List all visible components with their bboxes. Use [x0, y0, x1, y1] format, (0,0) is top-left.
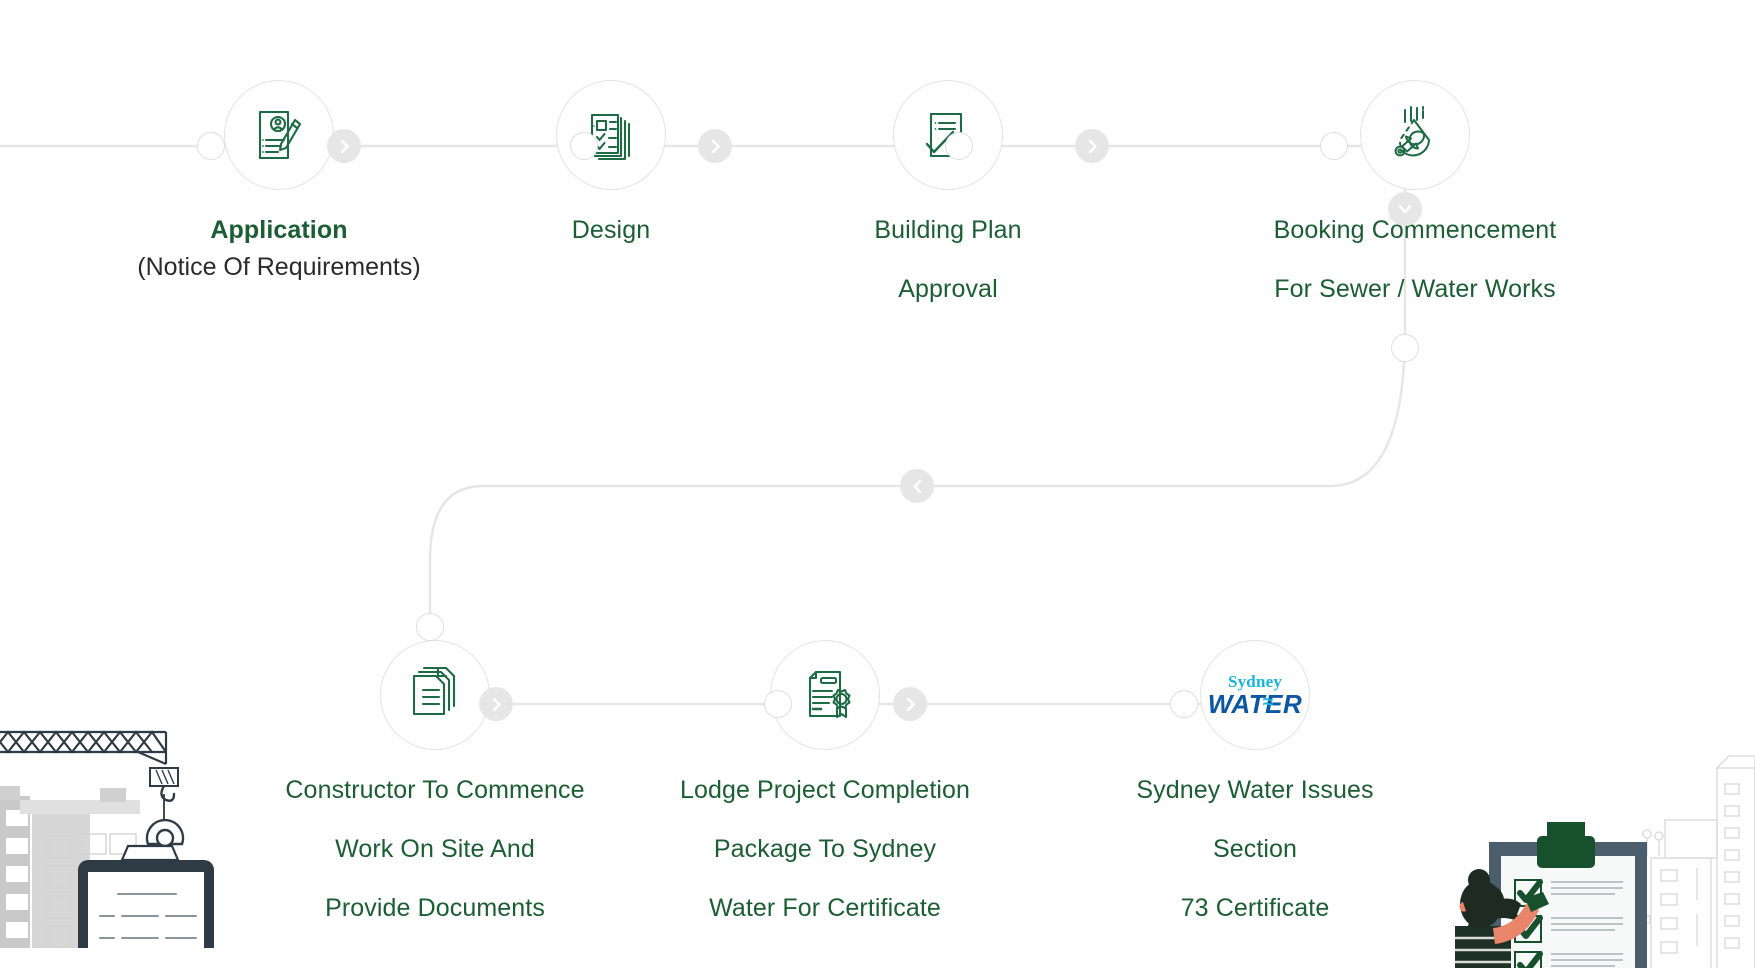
approved-document-check-icon	[917, 104, 979, 166]
step-building-plan-approval-label-2: Approval	[798, 271, 1098, 308]
step-constructor-label-2: Work On Site And	[270, 831, 600, 868]
hub-node-1	[197, 132, 225, 160]
step-application-circle[interactable]	[224, 80, 334, 190]
chevron-right-icon	[338, 140, 351, 153]
step-building-plan-approval-circle[interactable]	[893, 80, 1003, 190]
hub-node-8	[1170, 690, 1198, 718]
chevron-right-badge-3[interactable]	[1075, 129, 1109, 163]
step-application-sublabel: (Notice Of Requirements)	[129, 249, 429, 286]
application-form-pencil-icon	[248, 104, 310, 166]
step-building-plan-approval-label-1: Building Plan	[798, 212, 1098, 249]
step-booking-commencement-label-2: For Sewer / Water Works	[1255, 271, 1575, 308]
water-droplet-wrench-icon	[1384, 104, 1446, 166]
step-design[interactable]: Design	[461, 80, 761, 249]
sydney-water-logo-wave: ≈	[1263, 693, 1274, 712]
step-booking-commencement[interactable]: Booking Commencement For Sewer / Water W…	[1255, 80, 1575, 308]
step-constructor-label-1: Constructor To Commence	[270, 772, 600, 809]
chevron-down-icon	[1398, 202, 1412, 216]
chevron-right-badge-2[interactable]	[698, 129, 732, 163]
hub-node-3	[945, 132, 973, 160]
hub-node-2	[570, 132, 598, 160]
step-sydney-water-section-73[interactable]: Sydney WATER ≈ Sydney Water Issues Secti…	[1105, 640, 1405, 927]
step-sydney-water-label-1: Sydney Water Issues	[1105, 772, 1405, 809]
step-design-circle[interactable]	[556, 80, 666, 190]
step-building-plan-approval[interactable]: Building Plan Approval	[798, 80, 1098, 308]
chevron-down-badge-4[interactable]	[1388, 192, 1422, 226]
step-design-label: Design	[461, 212, 761, 249]
step-constructor-label-3: Provide Documents	[270, 890, 600, 927]
step-lodge-label-3: Water For Certificate	[660, 890, 990, 927]
step-sydney-water-circle[interactable]: Sydney WATER ≈	[1200, 640, 1310, 750]
chevron-left-badge-5[interactable]	[900, 469, 934, 503]
chevron-right-icon	[1086, 140, 1099, 153]
chevron-right-icon	[490, 698, 503, 711]
certificate-seal-document-icon	[794, 664, 856, 726]
chevron-right-badge-1[interactable]	[327, 129, 361, 163]
step-constructor-commence-work-circle[interactable]	[380, 640, 490, 750]
step-sydney-water-label-2: Section	[1105, 831, 1405, 868]
hub-node-5	[1391, 334, 1419, 362]
step-lodge-project-completion[interactable]: Lodge Project Completion Package To Sydn…	[660, 640, 990, 927]
hub-node-6	[416, 613, 444, 641]
step-constructor-commence-work[interactable]: Constructor To Commence Work On Site And…	[270, 640, 600, 927]
chevron-right-badge-6[interactable]	[479, 687, 513, 721]
stacked-documents-icon	[404, 664, 466, 726]
step-lodge-label-2: Package To Sydney	[660, 831, 990, 868]
steps-layer: Application (Notice Of Requirements)	[0, 0, 1755, 968]
hub-node-4	[1320, 132, 1348, 160]
chevron-right-badge-7[interactable]	[893, 687, 927, 721]
sydney-water-logo-sydney: Sydney	[1208, 673, 1302, 690]
step-application[interactable]: Application (Notice Of Requirements)	[129, 80, 429, 286]
hub-node-7	[764, 690, 792, 718]
sydney-water-logo: Sydney WATER ≈	[1208, 673, 1302, 717]
sydney-water-logo-wordmark: WATER	[1208, 689, 1302, 719]
step-booking-commencement-circle[interactable]	[1360, 80, 1470, 190]
flow-diagram: Application (Notice Of Requirements)	[0, 0, 1755, 968]
step-lodge-label-1: Lodge Project Completion	[660, 772, 990, 809]
chevron-right-icon	[709, 140, 722, 153]
sydney-water-logo-water: WATER ≈	[1208, 691, 1302, 717]
step-sydney-water-label-3: 73 Certificate	[1105, 890, 1405, 927]
chevron-right-icon	[904, 698, 917, 711]
chevron-left-icon	[911, 480, 924, 493]
step-application-label: Application	[129, 212, 429, 249]
